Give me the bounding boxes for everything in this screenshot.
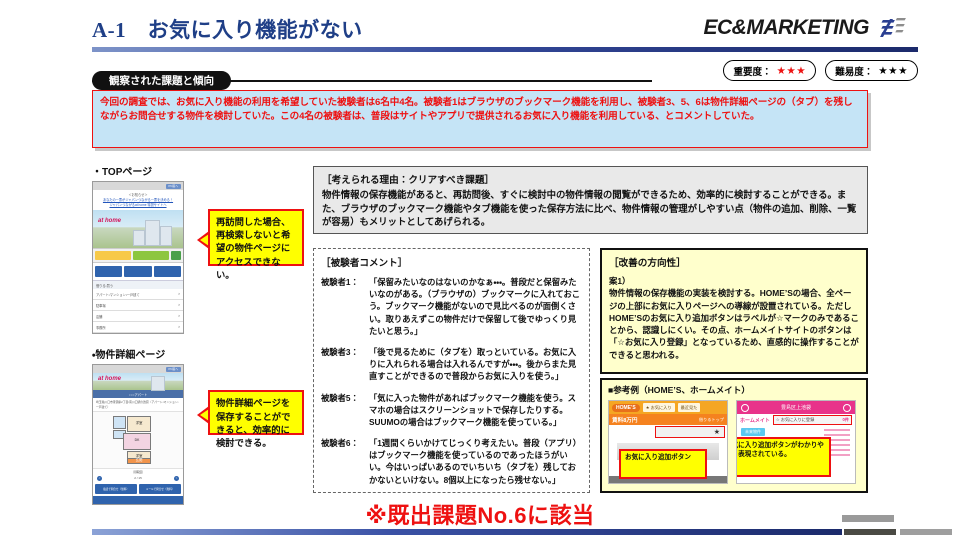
status-badge-difficulty: 難易度： ★★★ xyxy=(825,60,918,81)
homes-price-bar: 賃料8万円 借りるトップ xyxy=(609,414,727,425)
athome-logo: at home xyxy=(98,218,121,224)
severity-stars: ★★★ xyxy=(776,65,806,77)
homemate-favorite-button[interactable]: ☆ お気に入りに登録 0件 xyxy=(773,415,852,425)
next-arrow-icon[interactable]: > xyxy=(174,476,179,481)
hero-building-1 xyxy=(151,376,165,391)
comment-subject: 被験者1： xyxy=(321,276,369,337)
severity-label: 重要度： xyxy=(733,64,771,78)
promo-banner-1[interactable] xyxy=(95,251,131,260)
footer-note: ※既出課題No.6に該当 xyxy=(0,498,960,530)
difficulty-label: 難易度： xyxy=(835,64,873,78)
homes-logo: HOME’S xyxy=(612,404,640,412)
phone-topbar: PC版へ xyxy=(93,365,183,373)
top-page-phone-mockup: PC版へ ＜お知らせ＞ あなたの一票がジャパンつながる一票を決める！ ジャパンつ… xyxy=(92,181,184,334)
list-item: 被験者6： 「1週間くらいかけてじっくり考えたい。普段（アプリ）はブックマーク機… xyxy=(321,437,582,486)
footer-divider xyxy=(92,529,842,535)
homemate-chip: 未来物件 xyxy=(741,428,765,436)
floor-plan: 洋室 DK 洋室 玄関 xyxy=(93,411,183,469)
hero-image: at home xyxy=(93,210,183,248)
reference-heading: ■参考例（HOME’S、ホームメイト） xyxy=(608,384,860,396)
homes-header-bar: HOME’S ★ お気に入り 最近見た xyxy=(609,401,727,414)
subject-comments-box: ［被験者コメント］ 被験者1： 「保留みたいなのはないのかなぁ・・・。普段だと保… xyxy=(313,248,590,493)
comment-quote: 「保留みたいなのはないのかなぁ・・・。普段だと保留みたいなのがある。（ブラウザの… xyxy=(369,276,582,337)
notice-link-2[interactable]: ジャパンつながるat home 特設サイトへ xyxy=(97,203,179,208)
homes-favorites-tab[interactable]: ★ お気に入り xyxy=(643,403,675,412)
menu-circle-icon[interactable] xyxy=(843,404,851,412)
ec-marketing-logo-icon xyxy=(876,16,918,40)
homes-callout: お気に入り追加ボタン xyxy=(619,449,707,479)
property-title: ○○○アパート xyxy=(129,392,147,397)
list-item[interactable]: アパート・マンション・一戸建て > xyxy=(93,289,183,300)
comment-quote: 「後で見るために（タブを）取っといている。お気に入りに入れられる場合は入れるんで… xyxy=(369,346,582,383)
summary-box: 今回の調査では、お気に入り機能の利用を希望していた被験者は6名中4名。被験者1は… xyxy=(92,90,868,148)
reference-examples-box: ■参考例（HOME’S、ホームメイト） HOME’S ★ お気に入り 最近見た … xyxy=(600,378,868,493)
floor-plan-bath xyxy=(113,416,126,429)
homes-price-value: 賃料8万円 xyxy=(612,416,638,424)
list-item-label: 事務所 xyxy=(96,325,106,330)
section-tab-label: 観察された課題と傾向 xyxy=(92,71,231,90)
section-heading: 借りる・買う xyxy=(93,280,183,289)
rating-badges: 重要度： ★★★ 難易度： ★★★ xyxy=(723,60,918,81)
star-icon: ★ xyxy=(714,428,720,436)
top-page-screenshot-block: PC版へ ＜お知らせ＞ あなたの一票がジャパンつながる一票を決める！ ジャパンつ… xyxy=(92,181,304,334)
page-title: A-1 お気に入り機能がない xyxy=(92,14,363,44)
detail-hero-image: at home xyxy=(93,373,183,390)
reason-box: ［考えられる理由：クリアすべき課題］ 物件情報の保存機能があると、再訪問後、すぐ… xyxy=(313,166,868,234)
chevron-right-icon: > xyxy=(178,314,180,318)
property-title-bar: ○○○アパート xyxy=(93,390,183,398)
comment-quote: 「1週間くらいかけてじっくり考えたい。普段（アプリ）はブックマーク機能を使ってい… xyxy=(369,437,582,486)
chevron-right-icon: > xyxy=(178,303,180,307)
notice-area: ＜お知らせ＞ あなたの一票がジャパンつながる一票を決める！ ジャパンつながるat… xyxy=(93,190,183,210)
left-column: ・TOPページ PC版へ ＜お知らせ＞ あなたの一票がジャパンつながる一票を決め… xyxy=(92,163,304,505)
comments-list: 被験者1： 「保留みたいなのはないのかなぁ・・・。普段だと保留みたいなのがある。… xyxy=(321,276,582,486)
case-label-text: 案1） xyxy=(609,275,859,287)
notice-link-1[interactable]: あなたの一票がジャパンつながる一票を決める！ xyxy=(97,198,179,203)
top-page-label: ・TOPページ xyxy=(92,163,304,178)
brand-logo: EC&MARKETING xyxy=(704,16,919,40)
brand-name: EC&MARKETING xyxy=(704,16,870,40)
reason-body: 物件情報の保存機能があると、再訪問後、すぐに検討中の物件情報の閲覧ができるため、… xyxy=(322,188,859,229)
footer-chip-gray xyxy=(900,529,952,535)
image-pager[interactable]: < 2 / 15 > xyxy=(93,475,183,482)
improvement-box: ［改善の方向性］ 案1） 物件情報の保存機能の実装を検討する。HOME’Sの場合… xyxy=(600,248,868,374)
floor-plan-entrance: 玄関 xyxy=(127,458,151,464)
header-divider xyxy=(92,47,918,52)
chevron-right-icon: > xyxy=(178,292,180,296)
favorite-button-label: ☆ お気に入りに登録 xyxy=(776,417,814,423)
list-item-label: アパート・マンション・一戸建て xyxy=(96,292,140,297)
improvement-case-label: 案1） 物件情報の保存機能の実装を検討する。HOME’Sの場合、全ページの上部に… xyxy=(609,275,859,361)
homemate-logo: ホームメイト xyxy=(740,417,770,424)
chevron-right-icon: > xyxy=(178,325,180,329)
footer-chip-dark xyxy=(844,529,896,535)
room-label: 洋室 xyxy=(136,422,143,426)
improvement-heading: ［改善の方向性］ xyxy=(609,255,859,269)
homes-screenshot: HOME’S ★ お気に入り 最近見た 賃料8万円 借りるトップ ★ お気に入り… xyxy=(608,400,728,484)
improvement-body: 物件情報の保存機能の実装を検討する。HOME’Sの場合、全ページの上部にお気に入… xyxy=(609,287,859,361)
comment-subject: 被験者3： xyxy=(321,346,369,383)
homemate-sub-bar: ホームメイト ☆ お気に入りに登録 0件 xyxy=(737,414,855,426)
homes-favorite-star-button[interactable]: ★ xyxy=(655,426,725,438)
difficulty-stars: ★★★ xyxy=(878,65,908,77)
detail-page-phone-mockup: PC版へ at home ○○○アパート 埼玉県川口市東領家2丁目/南川口駅の賃… xyxy=(92,364,184,504)
hero-building-1 xyxy=(145,220,160,246)
pc-version-button[interactable]: PC版へ xyxy=(166,367,181,372)
list-item[interactable]: 駐車場 > xyxy=(93,300,183,311)
back-circle-icon[interactable] xyxy=(741,404,749,412)
detail-page-callout: 物件詳細ページを保存することができると、効率的に検討できる。 xyxy=(208,390,304,435)
homemate-header-bar: 豊島区上池袋 xyxy=(737,401,855,414)
list-item: 被験者1： 「保留みたいなのはないのかなぁ・・・。普段だと保留みたいなのがある。… xyxy=(321,276,582,337)
action-button-buy[interactable] xyxy=(124,266,151,277)
floor-plan-room-1: 洋室 xyxy=(127,416,151,432)
hero-building-3 xyxy=(133,230,145,246)
list-item[interactable]: 事務所 > xyxy=(93,322,183,333)
call-inquiry-button[interactable]: 電話で問合せ（無料） xyxy=(95,484,137,494)
pager-count: 2 / 15 xyxy=(134,476,142,480)
brand-name-text: EC&MARKETING xyxy=(704,16,870,39)
promo-banner-row[interactable] xyxy=(93,248,183,263)
corner-chip xyxy=(842,515,894,522)
comments-heading: ［被験者コメント］ xyxy=(321,255,582,269)
list-item-label: 店舗 xyxy=(96,314,102,319)
action-button-sell[interactable] xyxy=(154,266,181,277)
comment-subject: 被験者5： xyxy=(321,392,369,429)
list-item[interactable]: 店舗 > xyxy=(93,311,183,322)
comment-quote: 「気に入った物件があればブックマーク機能を使う。スマホの場合はスクリーンショット… xyxy=(369,392,582,429)
promo-banner-2[interactable] xyxy=(133,251,169,260)
reason-heading: ［考えられる理由：クリアすべき課題］ xyxy=(322,172,859,186)
status-badge-severity: 重要度： ★★★ xyxy=(723,60,816,81)
favorite-count: 0件 xyxy=(842,417,849,423)
notice-title: ＜お知らせ＞ xyxy=(128,193,147,197)
homemate-title: 豊島区上池袋 xyxy=(781,404,811,411)
slide-root: A-1 お気に入り機能がない EC&MARKETING 重要度： ★★★ 難易度… xyxy=(0,0,960,540)
homemate-screenshot: 豊島区上池袋 ホームメイト ☆ お気に入りに登録 0件 未来物件 お気 xyxy=(736,400,856,484)
reference-screenshots: HOME’S ★ お気に入り 最近見た 賃料8万円 借りるトップ ★ お気に入り… xyxy=(608,400,860,484)
summary-text: 今回の調査では、お気に入り機能の利用を希望していた被験者は6名中4名。被験者1は… xyxy=(100,96,860,124)
hero-building-2 xyxy=(160,226,172,246)
comment-subject: 被験者6： xyxy=(321,437,369,486)
top-page-callout: 再訪問した場合、再検索しないと希望の物件ページにアクセスできない。 xyxy=(208,209,304,266)
list-item: 被験者5： 「気に入った物件があればブックマーク機能を使う。スマホの場合はスクリ… xyxy=(321,392,582,429)
primary-action-row[interactable] xyxy=(93,263,183,280)
list-item: 被験者3： 「後で見るために（タブを）取っといている。お気に入りに入れられる場合… xyxy=(321,346,582,383)
phone-topbar: PC版へ xyxy=(93,182,183,190)
athome-logo: at home xyxy=(98,376,121,382)
detail-page-label: ・物件詳細ページ xyxy=(92,346,304,361)
pc-version-button[interactable]: PC版へ xyxy=(166,184,181,189)
promo-banner-3[interactable] xyxy=(171,251,181,260)
action-button-rent[interactable] xyxy=(95,266,122,277)
homes-top-link[interactable]: 借りるトップ xyxy=(699,417,724,423)
mail-inquiry-button[interactable]: メールで問合せ（無料） xyxy=(139,484,181,494)
homemate-callout: お気に入り追加ボタンがわかりやすく表現されている。 xyxy=(736,437,831,477)
detail-page-screenshot-block: PC版へ at home ○○○アパート 埼玉県川口市東領家2丁目/南川口駅の賃… xyxy=(92,364,304,504)
property-description: 埼玉県川口市東領家2丁目/南川口駅の賃貸（アパート・マンション・一戸建て） xyxy=(93,398,183,410)
list-item-label: 駐車場 xyxy=(96,303,106,308)
room-label: DK xyxy=(135,439,140,443)
floor-plan-dk: DK xyxy=(123,433,151,450)
contact-actions[interactable]: 電話で問合せ（無料） メールで問合せ（無料） xyxy=(93,482,183,496)
prev-arrow-icon[interactable]: < xyxy=(97,476,102,481)
homes-recent-tab[interactable]: 最近見た xyxy=(678,403,701,412)
